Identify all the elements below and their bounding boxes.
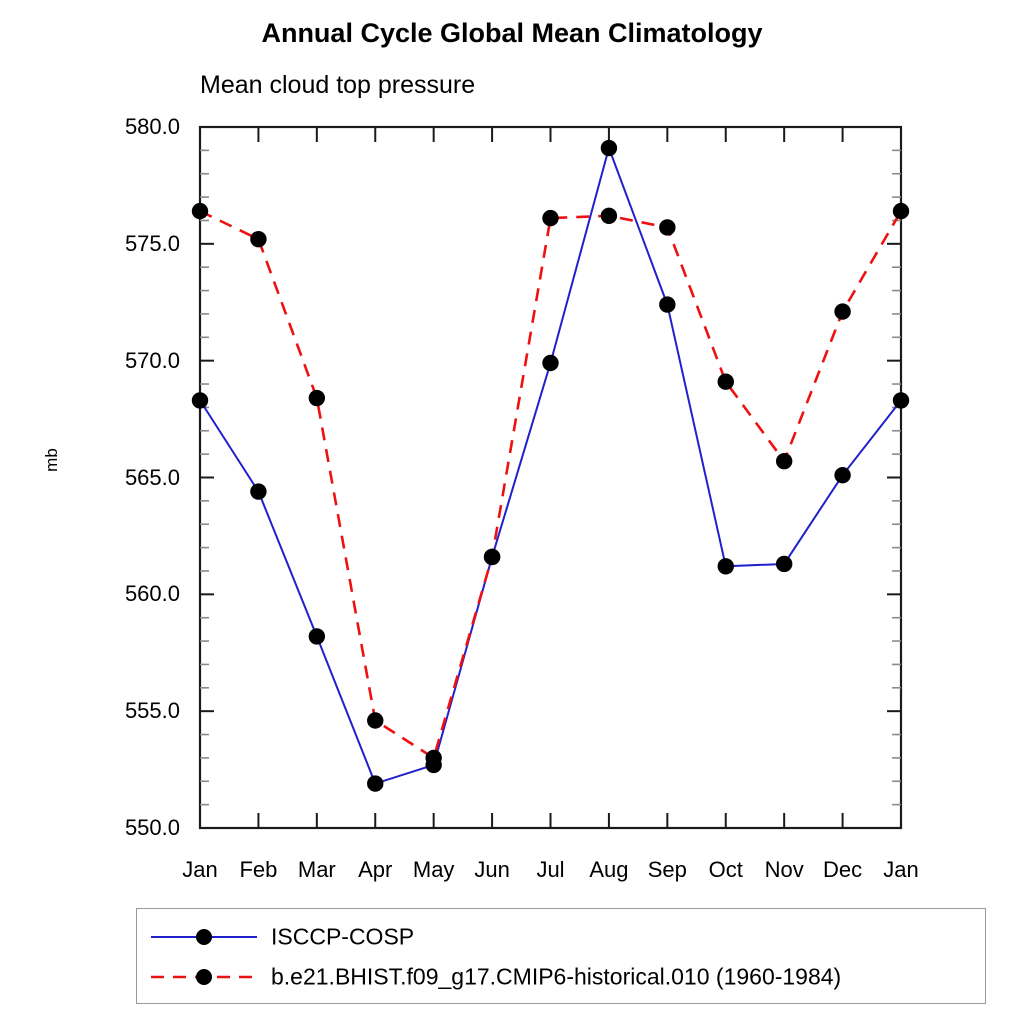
data-point (776, 453, 792, 469)
data-point (484, 549, 500, 565)
data-point (834, 467, 850, 483)
data-point (425, 750, 441, 766)
data-point (367, 712, 383, 728)
data-point (601, 208, 617, 224)
data-point (367, 775, 383, 791)
data-point (309, 390, 325, 406)
data-point (542, 210, 558, 226)
plot-frame (200, 127, 901, 828)
data-point (309, 628, 325, 644)
series-line-0 (200, 148, 901, 784)
data-point (776, 556, 792, 572)
data-point (192, 392, 208, 408)
data-point (659, 219, 675, 235)
data-point (542, 355, 558, 371)
data-point (192, 203, 208, 219)
data-point (659, 296, 675, 312)
data-point (718, 374, 734, 390)
data-point (834, 303, 850, 319)
series-line-1 (200, 211, 901, 758)
chart-canvas: Annual Cycle Global Mean Climatology Mea… (0, 0, 1024, 1024)
legend-item-isccp-cosp[interactable]: ISCCP-COSP (137, 917, 985, 957)
data-point (250, 483, 266, 499)
chart-legend: ISCCP-COSP b.e21.BHIST.f09_g17.CMIP6-his… (136, 908, 986, 1004)
legend-sample-line-solid (149, 917, 259, 957)
legend-label: b.e21.BHIST.f09_g17.CMIP6-historical.010… (271, 964, 841, 991)
plot-area (0, 0, 1024, 1024)
legend-label: ISCCP-COSP (271, 924, 414, 951)
data-point (250, 231, 266, 247)
data-point (893, 392, 909, 408)
legend-item-model[interactable]: b.e21.BHIST.f09_g17.CMIP6-historical.010… (137, 957, 985, 997)
data-point (718, 558, 734, 574)
legend-sample-line-dashed (149, 957, 259, 997)
data-point (601, 140, 617, 156)
data-point (893, 203, 909, 219)
